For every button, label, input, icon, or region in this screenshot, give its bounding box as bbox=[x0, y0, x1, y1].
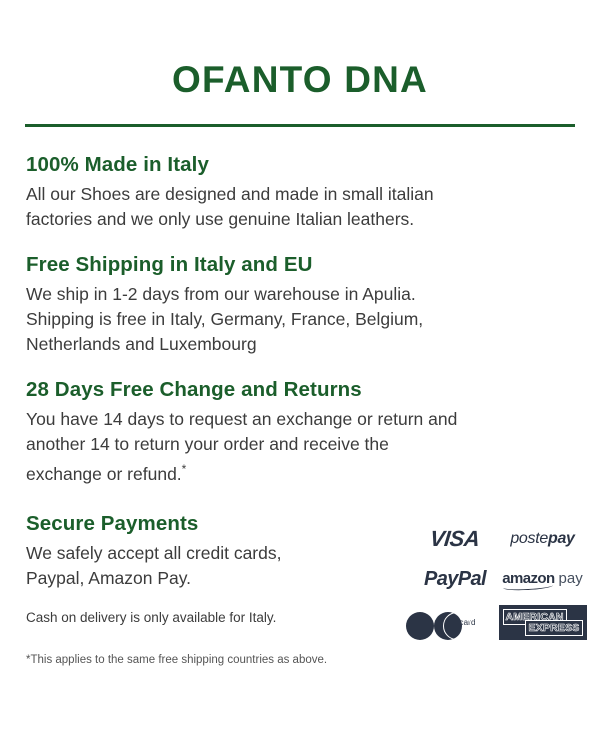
mastercard-logo-cell: mastercard bbox=[434, 617, 475, 629]
body-line: We ship in 1-2 days from our warehouse i… bbox=[26, 282, 574, 307]
amazon-pay-icon-suffix: pay bbox=[559, 570, 583, 587]
body-line-text: exchange or refund. bbox=[26, 464, 182, 484]
postepay-icon-part-light: poste bbox=[510, 530, 548, 547]
section-free-change-and-returns: 28 Days Free Change and Returns You have… bbox=[26, 377, 574, 487]
body-line: You have 14 days to request an exchange … bbox=[26, 407, 574, 432]
body-line: We safely accept all credit cards, bbox=[26, 541, 406, 566]
asterisk-marker: * bbox=[182, 462, 187, 476]
body-line: exchange or refund.* bbox=[26, 457, 574, 487]
section-heading-secure-payments: Secure Payments bbox=[26, 511, 406, 537]
body-line: Paypal, Amazon Pay. bbox=[26, 566, 406, 591]
postepay-icon: postepay bbox=[510, 530, 574, 548]
content-sections: 100% Made in Italy All our Shoes are des… bbox=[26, 152, 574, 651]
mastercard-icon: mastercard bbox=[434, 617, 475, 629]
amazon-pay-icon: amazonpay bbox=[502, 571, 582, 589]
section-heading-made-in-italy: 100% Made in Italy bbox=[26, 152, 574, 178]
body-line: All our Shoes are designed and made in s… bbox=[26, 182, 574, 207]
section-body-returns: You have 14 days to request an exchange … bbox=[26, 407, 574, 487]
section-free-shipping: Free Shipping in Italy and EU We ship in… bbox=[26, 252, 574, 357]
body-line: factories and we only use genuine Italia… bbox=[26, 207, 574, 232]
mastercard-circle-right bbox=[406, 612, 434, 640]
section-secure-payments: Secure Payments We safely accept all cre… bbox=[26, 511, 574, 651]
secure-payments-text: Secure Payments We safely accept all cre… bbox=[26, 511, 406, 627]
page-title: OFANTO DNA bbox=[0, 58, 600, 102]
paypal-icon: PayPal bbox=[424, 568, 486, 591]
amazon-pay-logo-cell: amazonpay bbox=[502, 571, 582, 589]
ofanto-dna-info-panel: OFANTO DNA 100% Made in Italy All our Sh… bbox=[0, 0, 600, 750]
section-body-secure-payments: We safely accept all credit cards, Paypa… bbox=[26, 541, 406, 591]
cash-on-delivery-note: Cash on delivery is only available for I… bbox=[26, 609, 406, 627]
section-body-free-shipping: We ship in 1-2 days from our warehouse i… bbox=[26, 282, 574, 357]
section-heading-returns: 28 Days Free Change and Returns bbox=[26, 377, 574, 403]
american-express-icon: AMERICAN EXPRESS bbox=[499, 605, 587, 640]
section-heading-free-shipping: Free Shipping in Italy and EU bbox=[26, 252, 574, 278]
body-line: Shipping is free in Italy, Germany, Fran… bbox=[26, 307, 574, 332]
postepay-icon-part-bold: pay bbox=[548, 530, 575, 547]
payment-logos-grid: VISA postepay PayPal amazonpay bbox=[417, 517, 592, 647]
body-line: Netherlands and Luxembourg bbox=[26, 332, 574, 357]
mastercard-circle-overlap bbox=[443, 612, 471, 640]
section-body-made-in-italy: All our Shoes are designed and made in s… bbox=[26, 182, 574, 232]
section-made-in-italy: 100% Made in Italy All our Shoes are des… bbox=[26, 152, 574, 232]
american-express-icon-line2: EXPRESS bbox=[525, 620, 582, 636]
visa-icon: VISA bbox=[429, 526, 481, 552]
title-divider bbox=[25, 124, 575, 127]
amazon-pay-icon-wordmark: amazon bbox=[502, 571, 554, 589]
visa-logo-cell: VISA bbox=[430, 526, 479, 552]
paypal-logo-cell: PayPal bbox=[424, 568, 486, 591]
body-line: another 14 to return your order and rece… bbox=[26, 432, 574, 457]
footnote: *This applies to the same free shipping … bbox=[26, 652, 574, 668]
postepay-logo-cell: postepay bbox=[510, 530, 574, 548]
american-express-logo-cell: AMERICAN EXPRESS bbox=[499, 605, 587, 640]
